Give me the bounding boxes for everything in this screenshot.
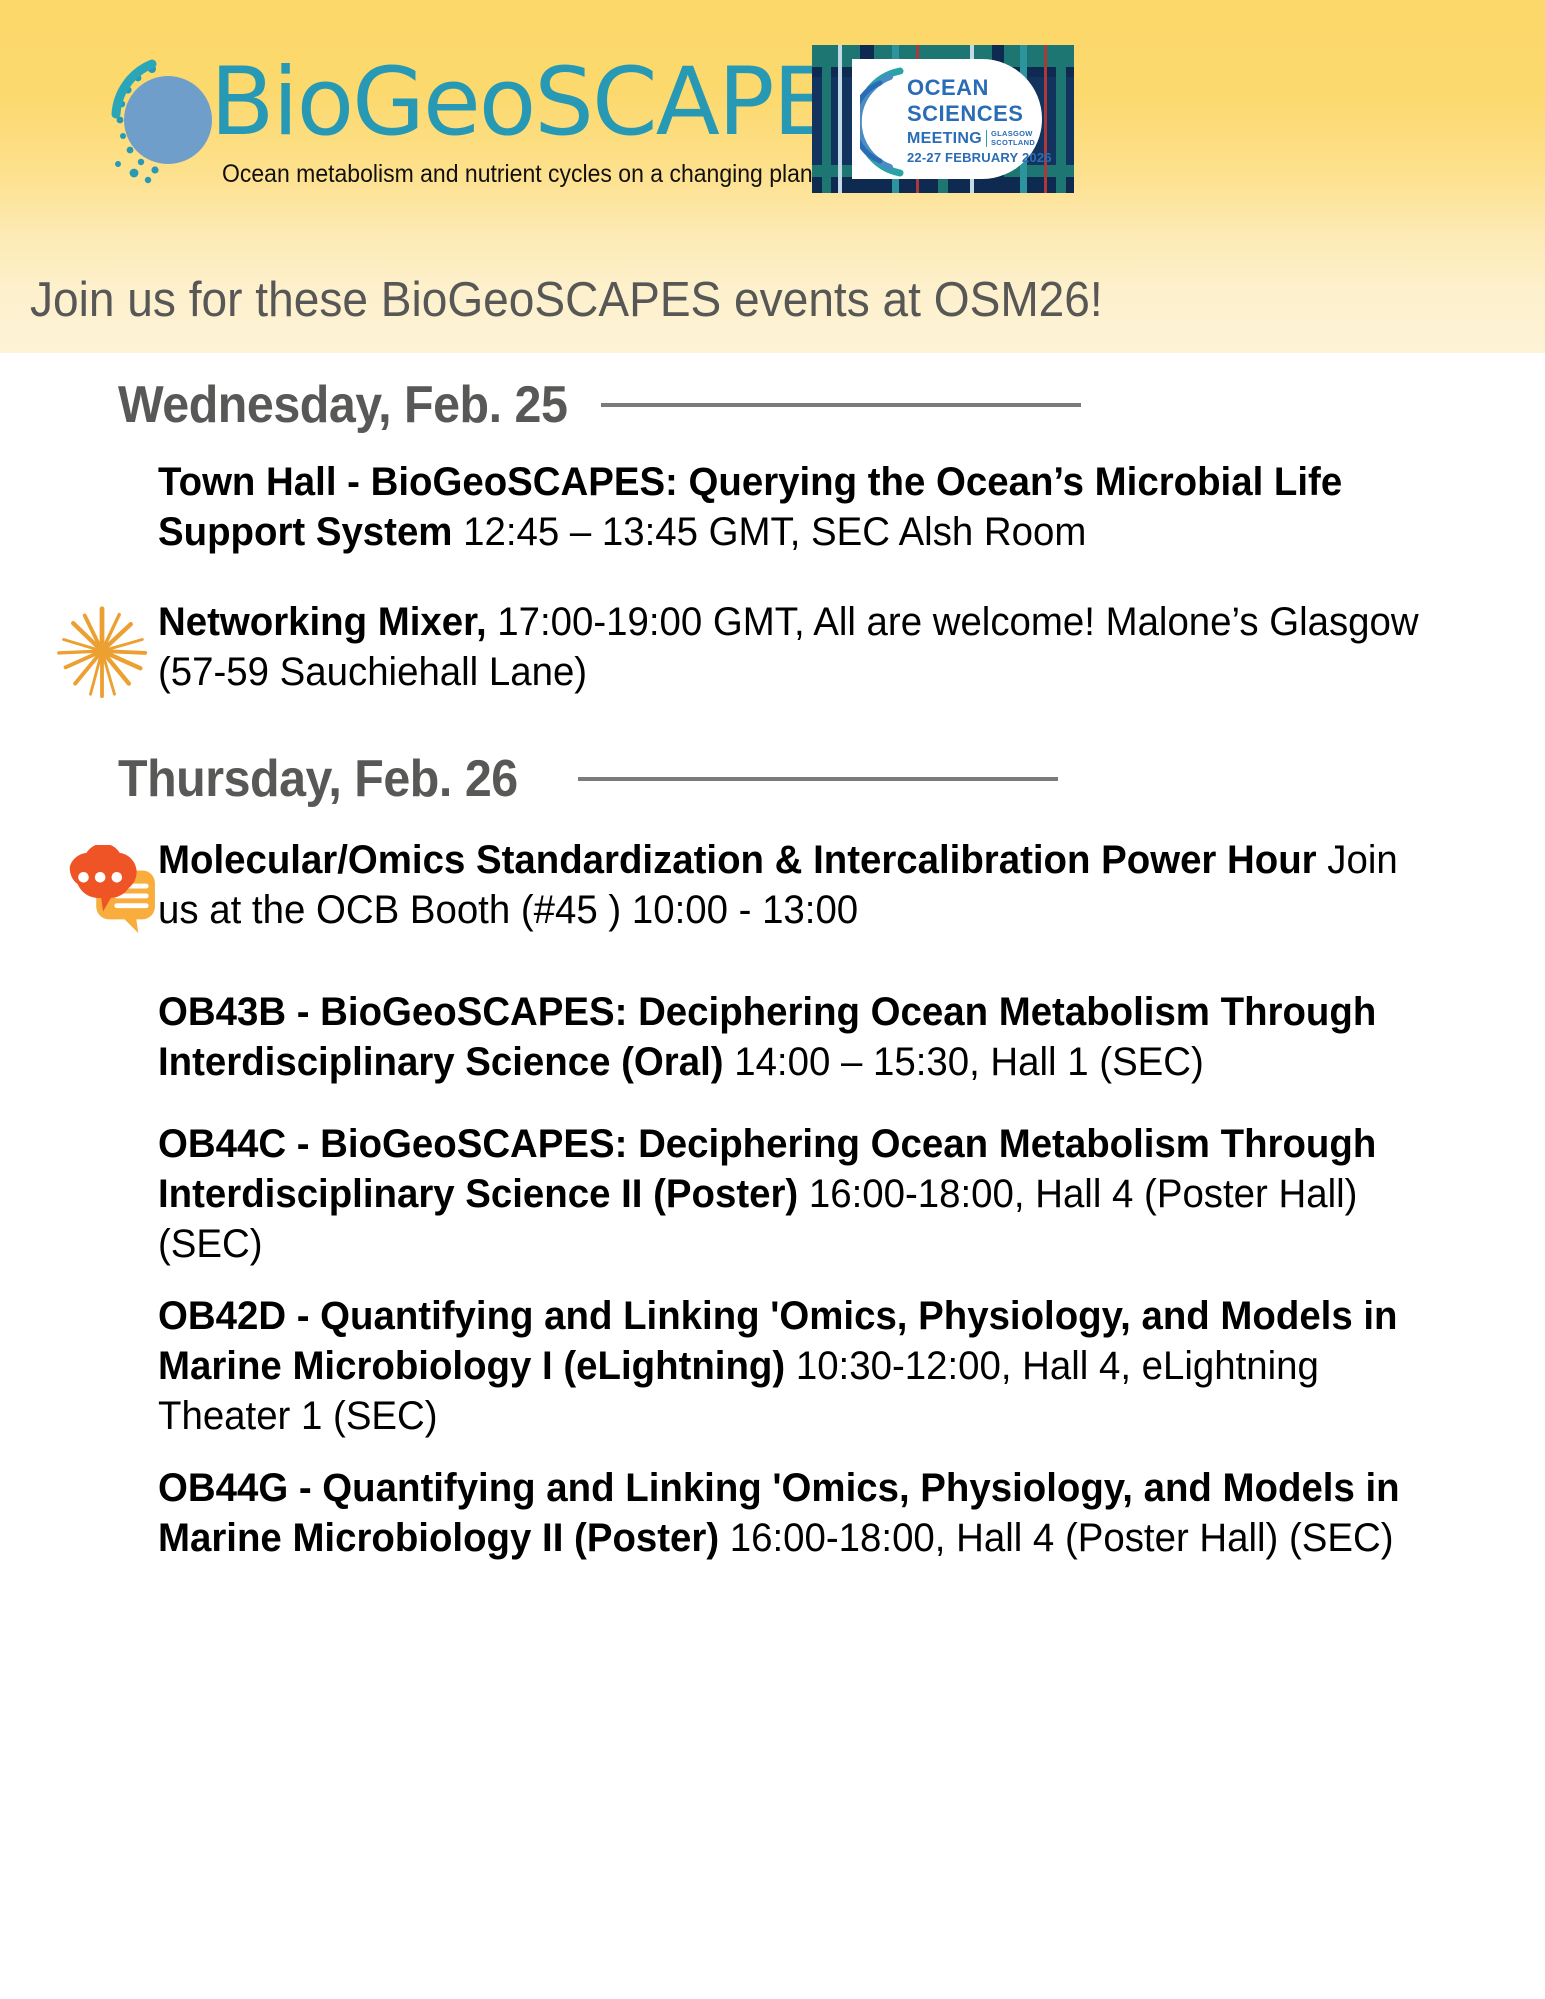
- event-networking-mixer-text: Networking Mixer, 17:00-19:00 GMT, All a…: [158, 597, 1432, 697]
- day-heading-thursday: Thursday, Feb. 26: [118, 749, 1545, 809]
- event-power-hour-title: Molecular/Omics Standardization & Interc…: [158, 838, 1317, 882]
- ocean-sciences-meeting-logo: OCEAN SCIENCES MEETING GLASGOW SCOTLAND …: [812, 45, 1074, 193]
- event-ob44g-details: 16:00-18:00, Hall 4 (Poster Hall) (SEC): [719, 1516, 1393, 1560]
- day-heading-wednesday-label: Wednesday, Feb. 25: [118, 375, 567, 435]
- day-heading-wednesday: Wednesday, Feb. 25: [118, 375, 1545, 435]
- event-ob44g: OB44G - Quantifying and Linking 'Omics, …: [48, 1463, 1485, 1573]
- day-heading-wednesday-rule: [601, 403, 1081, 407]
- event-ob42d-text: OB42D - Quantifying and Linking 'Omics, …: [158, 1291, 1432, 1441]
- osm-city-block: GLASGOW SCOTLAND: [986, 130, 1035, 147]
- banner-headline: Join us for these BioGeoSCAPES events at…: [30, 272, 1103, 328]
- osm-logo-text: OCEAN SCIENCES MEETING GLASGOW SCOTLAND …: [907, 77, 1052, 164]
- event-icon-placeholder: [48, 1463, 158, 1573]
- osm-city-scotland: SCOTLAND: [991, 138, 1035, 147]
- sparkle-icon: [48, 597, 158, 707]
- osm-line-sciences: SCIENCES: [907, 103, 1052, 125]
- event-ob44c: OB44C - BioGeoSCAPES: Deciphering Ocean …: [48, 1119, 1485, 1269]
- day-heading-thursday-rule: [578, 777, 1058, 781]
- event-ob43b-details: 14:00 – 15:30, Hall 1 (SEC): [724, 1040, 1204, 1084]
- osm-line-meeting: MEETING GLASGOW SCOTLAND: [907, 130, 1052, 147]
- events-content: Wednesday, Feb. 25 Town Hall - BioGeoSCA…: [0, 375, 1545, 1573]
- sparkle-burst-icon: [54, 603, 150, 699]
- event-power-hour: Molecular/Omics Standardization & Interc…: [48, 835, 1485, 945]
- biogeoscapes-wordmark: BioGeoSCAPES: [210, 48, 888, 158]
- event-power-hour-text: Molecular/Omics Standardization & Interc…: [158, 835, 1432, 935]
- event-town-hall-details: 12:45 – 13:45 GMT, SEC Alsh Room: [452, 510, 1086, 554]
- day-heading-thursday-label: Thursday, Feb. 26: [118, 749, 518, 809]
- event-ob44g-text: OB44G - Quantifying and Linking 'Omics, …: [158, 1463, 1432, 1563]
- osm-meeting-word: MEETING: [907, 131, 982, 147]
- event-town-hall-text: Town Hall - BioGeoSCAPES: Querying the O…: [158, 457, 1432, 557]
- event-icon-placeholder: [48, 1291, 158, 1401]
- osm-line-ocean: OCEAN: [907, 77, 1052, 99]
- event-icon-placeholder: [48, 987, 158, 1097]
- event-icon-placeholder: [48, 457, 158, 567]
- speech-bubbles-icon: [48, 835, 158, 945]
- event-ob43b: OB43B - BioGeoSCAPES: Deciphering Ocean …: [48, 987, 1485, 1097]
- speech-bubbles-glyph: [58, 845, 156, 937]
- event-town-hall: Town Hall - BioGeoSCAPES: Querying the O…: [48, 457, 1485, 567]
- event-networking-mixer-title: Networking Mixer,: [158, 600, 487, 644]
- event-ob44c-text: OB44C - BioGeoSCAPES: Deciphering Ocean …: [158, 1119, 1432, 1269]
- osm-dates: 22-27 FEBRUARY 2026: [907, 151, 1052, 164]
- event-ob43b-text: OB43B - BioGeoSCAPES: Deciphering Ocean …: [158, 987, 1432, 1087]
- event-icon-placeholder: [48, 1119, 158, 1229]
- biogeoscapes-tagline: Ocean metabolism and nutrient cycles on …: [222, 160, 832, 189]
- event-networking-mixer: Networking Mixer, 17:00-19:00 GMT, All a…: [48, 597, 1485, 707]
- poster-header: BioGeoSCAPES Ocean metabolism and nutrie…: [0, 0, 1545, 353]
- event-ob42d: OB42D - Quantifying and Linking 'Omics, …: [48, 1291, 1485, 1441]
- logo-row: BioGeoSCAPES Ocean metabolism and nutrie…: [0, 0, 1545, 250]
